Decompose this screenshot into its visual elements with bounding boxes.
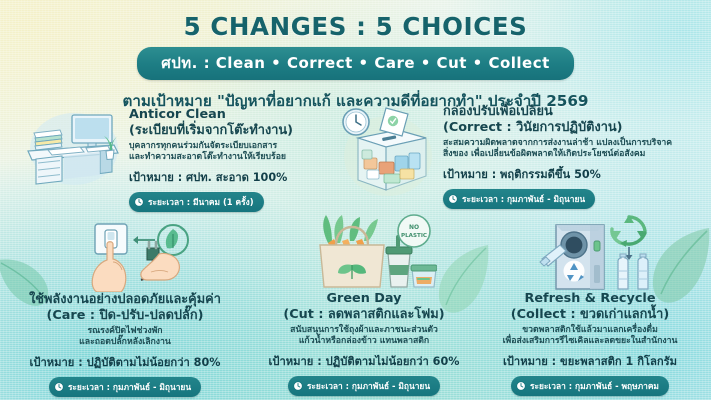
- light-switch-unplug-icon: [55, 222, 195, 292]
- block-clean-desc-2: และทำความสะอาดโต๊ะทำงานให้เรียบร้อย: [129, 152, 286, 162]
- block-clean-text: Anticor Clean (ระเบียบที่เริ่มจากโต๊ะทำง…: [129, 107, 293, 212]
- block-collect-heading-2: (Collect : ขวดเก่าแลกน้ำ): [511, 307, 669, 322]
- block-correct-desc-1: สะสมความผิดพลาดจากการส่งงานล่าช้า แปลงเป…: [443, 138, 672, 148]
- block-cut-desc-1: สนับสนุนการใช้ถุงผ้าและภาชนะส่วนตัว: [290, 325, 438, 335]
- subtitle-pill: ศปท. : Clean • Correct • Care • Cut • Co…: [137, 47, 574, 80]
- block-collect-text: Refresh & Recycle (Collect : ขวดเก่าแลกน…: [503, 291, 678, 396]
- block-care-desc-1: รณรงค์ปิดไฟช่วงพัก: [87, 326, 162, 336]
- infographic-poster: 5 CHANGES : 5 CHOICES ศปท. : Clean • Cor…: [0, 0, 711, 400]
- block-care-goal: เป้าหมาย : ปฏิบัติตามไม่น้อยกว่า 80%: [29, 353, 221, 371]
- clock-icon: [293, 381, 303, 391]
- block-cut-desc-2: แก้วน้ำหรือกล่องข้าว แทนพลาสติก: [299, 336, 429, 346]
- block-correct-goal: เป้าหมาย : พฤติกรรมดีขึ้น 50%: [443, 165, 672, 183]
- clock-icon: [134, 197, 144, 207]
- block-collect-desc-2: เพื่อส่งเสริมการรีไซเคิลและลดขยะในสำนักง…: [503, 336, 678, 346]
- block-clean: Anticor Clean (ระเบียบที่เริ่มจากโต๊ะทำง…: [22, 107, 293, 212]
- block-care-badge-label: ระยะเวลา : กุมภาพันธ์ - มิถุนายน: [68, 380, 191, 394]
- block-correct-desc-2: สิ่งของ เพื่อเปลี่ยนข้อผิดพลาดให้เกิดประ…: [443, 149, 645, 159]
- block-correct-text: กล่องปรับเพื่อเปลี่ยน (Correct : วินัยกา…: [443, 104, 672, 209]
- office-desk-icon: [22, 109, 122, 187]
- tote-bag-no-plastic-icon: NO PLASTIC: [292, 213, 437, 291]
- block-clean-heading-2: (ระเบียบที่เริ่มจากโต๊ะทำงาน): [129, 123, 293, 138]
- block-care-heading-1: ใช้พลังงานอย่างปลอดภัยและคุ้มค่า: [29, 292, 221, 307]
- clock-icon: [54, 382, 64, 392]
- block-care-badge: ระยะเวลา : กุมภาพันธ์ - มิถุนายน: [49, 377, 201, 397]
- block-care-text: ใช้พลังงานอย่างปลอดภัยและคุ้มค่า (Care :…: [29, 292, 221, 397]
- block-collect-goal: เป้าหมาย : ขยะพลาสติก 1 กิโลกรัม: [503, 352, 678, 370]
- block-collect-badge: ระยะเวลา : กุมภาพันธ์ - พฤษภาคม: [511, 376, 669, 396]
- clock-icon: [448, 194, 458, 204]
- page-title: 5 CHANGES : 5 CHOICES: [0, 12, 711, 41]
- block-cut-badge: ระยะเวลา : กุมภาพันธ์ - มิถุนายน: [288, 376, 440, 396]
- block-clean-badge: ระยะเวลา : มีนาคม (1 ครั้ง): [129, 192, 264, 212]
- block-collect-heading-1: Refresh & Recycle: [525, 291, 656, 306]
- block-correct-badge: ระยะเวลา : กุมภาพันธ์ - มิถุนายน: [443, 189, 595, 209]
- recycle-vending-machine-icon: [520, 213, 660, 291]
- block-cut: NO PLASTIC Green Day (Cut : ลดพลาสติกและ…: [258, 213, 470, 396]
- clock-icon: [516, 381, 526, 391]
- block-cut-goal: เป้าหมาย : ปฏิบัติตามไม่น้อยกว่า 60%: [269, 352, 460, 370]
- block-collect-desc-1: ขวดพลาสติกใช้แล้วมาแลกเครื่องดื่ม: [522, 325, 658, 335]
- block-correct-badge-label: ระยะเวลา : กุมภาพันธ์ - มิถุนายน: [462, 192, 585, 206]
- poster-header: 5 CHANGES : 5 CHOICES ศปท. : Clean • Cor…: [0, 0, 711, 113]
- donation-box-clock-icon: [336, 106, 436, 198]
- block-collect: Refresh & Recycle (Collect : ขวดเก่าแลกน…: [472, 213, 708, 396]
- block-clean-goal: เป้าหมาย : ศปท. สะอาด 100%: [129, 168, 293, 186]
- block-correct-heading-2: (Correct : วินัยการปฏิบัติงาน): [443, 120, 622, 135]
- block-care: ใช้พลังงานอย่างปลอดภัยและคุ้มค่า (Care :…: [2, 222, 248, 397]
- block-cut-heading-1: Green Day: [327, 291, 402, 306]
- block-cut-text: Green Day (Cut : ลดพลาสติกและโฟม) สนับสน…: [269, 291, 460, 396]
- block-clean-badge-label: ระยะเวลา : มีนาคม (1 ครั้ง): [148, 195, 254, 209]
- block-care-heading-2: (Care : ปิด-ปรับ-ปลดปลั๊ก): [47, 308, 204, 323]
- block-cut-badge-label: ระยะเวลา : กุมภาพันธ์ - มิถุนายน: [307, 379, 430, 393]
- block-cut-heading-2: (Cut : ลดพลาสติกและโฟม): [283, 307, 444, 322]
- block-care-desc-2: และถอดปลั๊กหลังเลิกงาน: [79, 337, 171, 347]
- block-collect-badge-label: ระยะเวลา : กุมภาพันธ์ - พฤษภาคม: [530, 379, 659, 393]
- block-correct: กล่องปรับเพื่อเปลี่ยน (Correct : วินัยกา…: [336, 104, 672, 209]
- svg-text:PLASTIC: PLASTIC: [400, 233, 426, 239]
- block-clean-desc-1: บุคลากรทุกคนร่วมกันจัดระเบียบเอกสาร: [129, 141, 277, 151]
- svg-text:NO: NO: [408, 224, 418, 231]
- tagline: ตามเป้าหมาย "ปัญหาที่อยากแก้ และความดีที…: [0, 89, 711, 113]
